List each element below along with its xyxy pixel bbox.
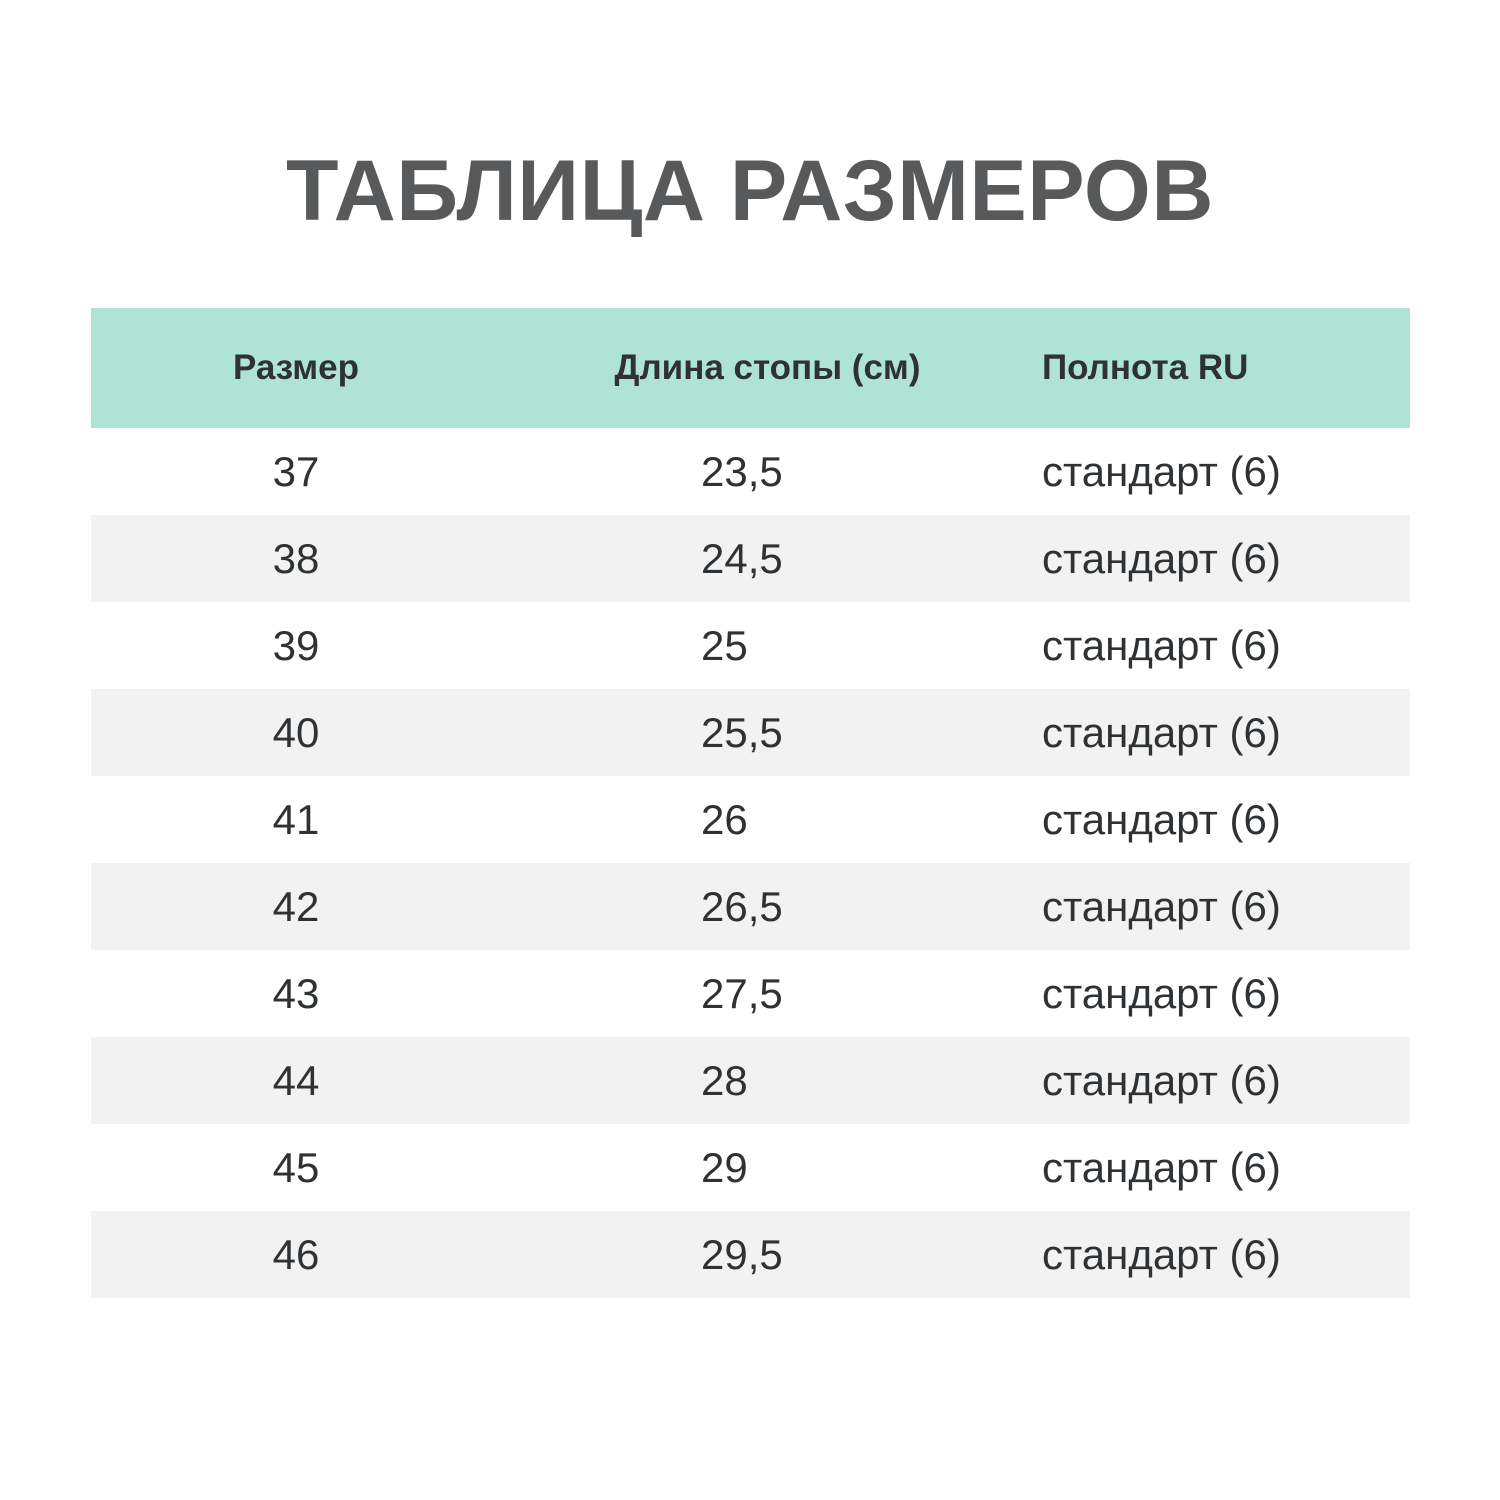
cell-width-ru: стандарт (6) [1034, 428, 1410, 515]
cell-size: 39 [91, 602, 501, 689]
cell-width-ru: стандарт (6) [1034, 1211, 1410, 1298]
cell-size: 42 [91, 863, 501, 950]
cell-size: 43 [91, 950, 501, 1037]
cell-foot-length: 26 [501, 776, 1034, 863]
page-title: ТАБЛИЦА РАЗМЕРОВ [0, 148, 1500, 234]
column-header-width-ru: Полнота RU [1034, 308, 1410, 428]
table-row: 3723,5стандарт (6) [91, 428, 1410, 515]
cell-foot-length: 23,5 [501, 428, 1034, 515]
table-row: 4025,5стандарт (6) [91, 689, 1410, 776]
cell-width-ru: стандарт (6) [1034, 863, 1410, 950]
cell-width-ru: стандарт (6) [1034, 950, 1410, 1037]
cell-foot-length: 29,5 [501, 1211, 1034, 1298]
size-chart-table: Размер Длина стопы (см) Полнота RU 3723,… [91, 308, 1410, 1298]
cell-foot-length: 24,5 [501, 515, 1034, 602]
cell-size: 41 [91, 776, 501, 863]
cell-foot-length: 27,5 [501, 950, 1034, 1037]
table-header: Размер Длина стопы (см) Полнота RU [91, 308, 1410, 428]
cell-width-ru: стандарт (6) [1034, 689, 1410, 776]
cell-foot-length: 26,5 [501, 863, 1034, 950]
table-body: 3723,5стандарт (6)3824,5стандарт (6)3925… [91, 428, 1410, 1298]
cell-width-ru: стандарт (6) [1034, 515, 1410, 602]
cell-size: 38 [91, 515, 501, 602]
cell-size: 37 [91, 428, 501, 515]
column-header-foot-length: Длина стопы (см) [501, 308, 1034, 428]
cell-size: 44 [91, 1037, 501, 1124]
cell-size: 46 [91, 1211, 501, 1298]
table-row: 4126стандарт (6) [91, 776, 1410, 863]
table-row: 3925стандарт (6) [91, 602, 1410, 689]
table-row: 4529стандарт (6) [91, 1124, 1410, 1211]
table-row: 4327,5стандарт (6) [91, 950, 1410, 1037]
table-header-row: Размер Длина стопы (см) Полнота RU [91, 308, 1410, 428]
cell-size: 40 [91, 689, 501, 776]
cell-foot-length: 25,5 [501, 689, 1034, 776]
table-row: 4629,5стандарт (6) [91, 1211, 1410, 1298]
size-chart-page: ТАБЛИЦА РАЗМЕРОВ Размер Длина стопы (см)… [0, 0, 1500, 1500]
table-row: 4428стандарт (6) [91, 1037, 1410, 1124]
cell-width-ru: стандарт (6) [1034, 1037, 1410, 1124]
cell-width-ru: стандарт (6) [1034, 1124, 1410, 1211]
cell-foot-length: 28 [501, 1037, 1034, 1124]
cell-foot-length: 25 [501, 602, 1034, 689]
column-header-size: Размер [91, 308, 501, 428]
table-row: 3824,5стандарт (6) [91, 515, 1410, 602]
cell-size: 45 [91, 1124, 501, 1211]
cell-width-ru: стандарт (6) [1034, 602, 1410, 689]
table-row: 4226,5стандарт (6) [91, 863, 1410, 950]
cell-foot-length: 29 [501, 1124, 1034, 1211]
cell-width-ru: стандарт (6) [1034, 776, 1410, 863]
